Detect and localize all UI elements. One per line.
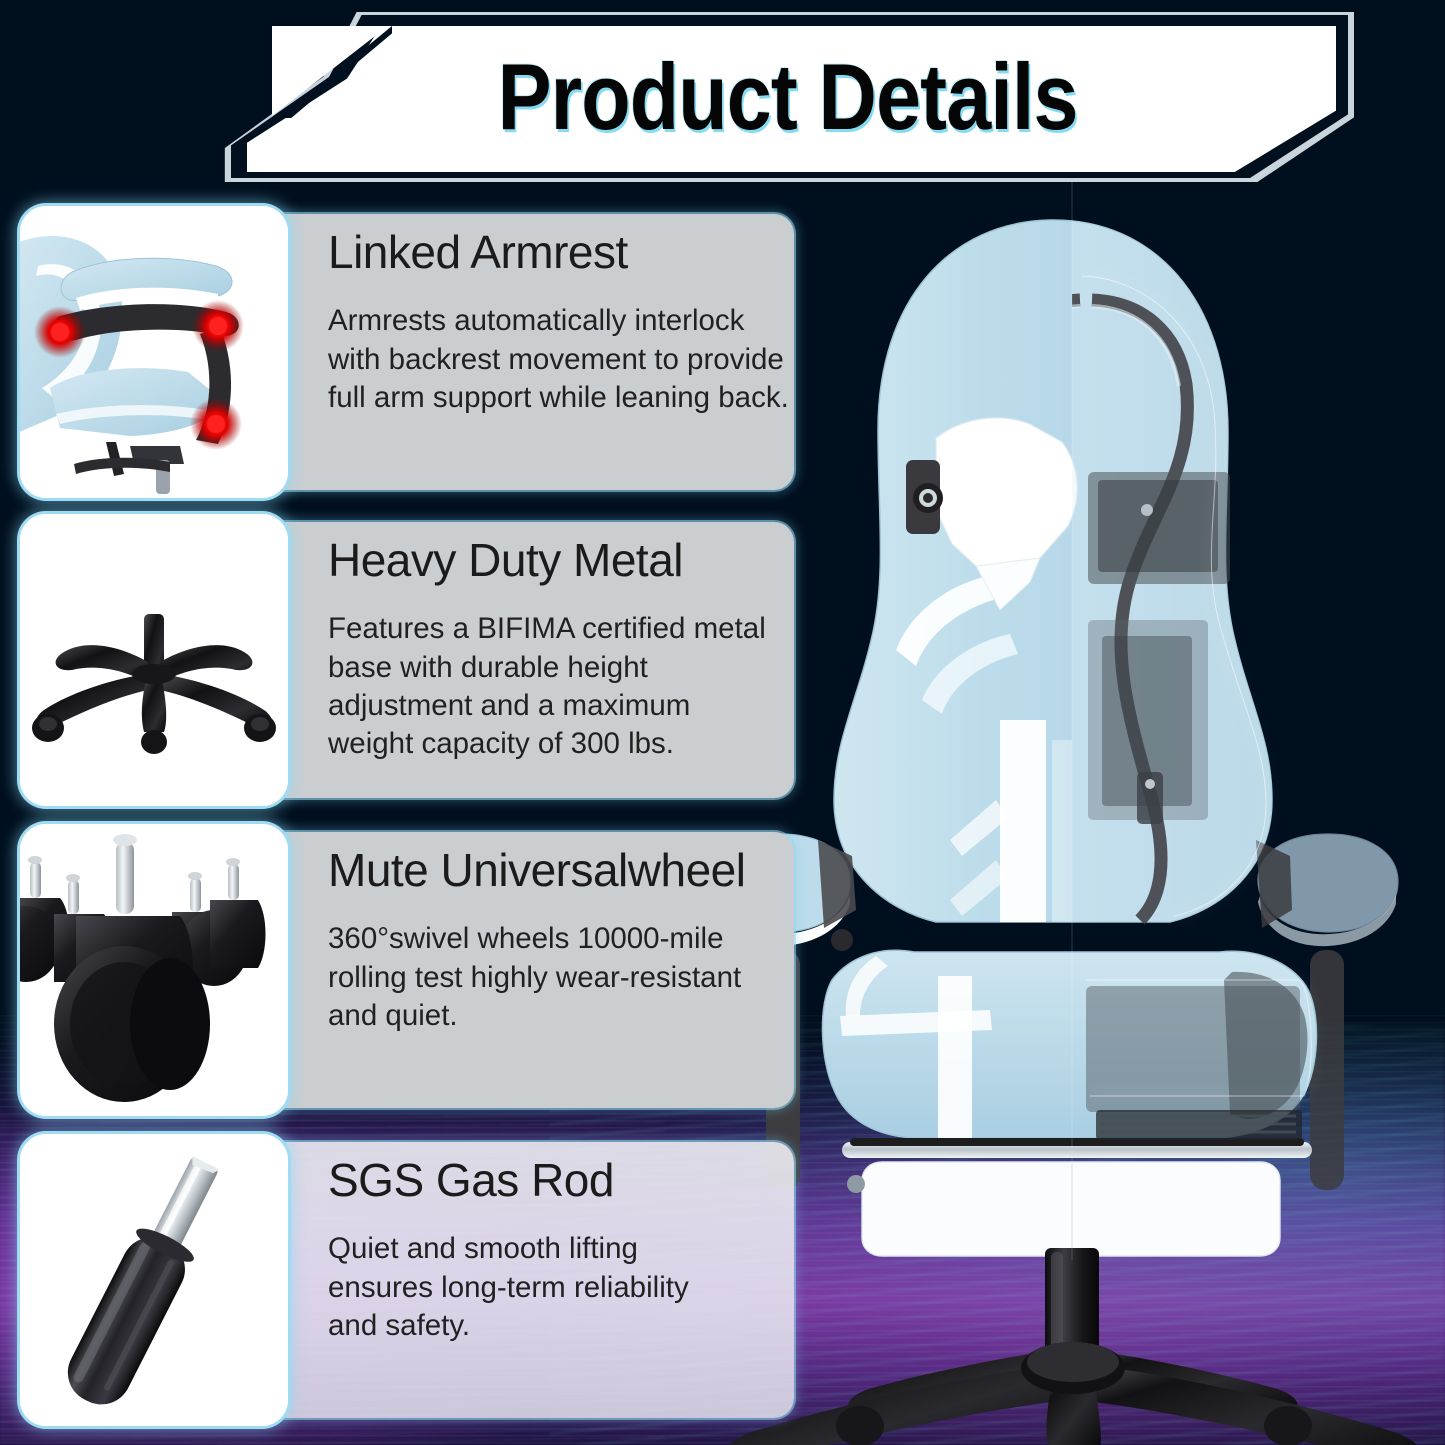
feature-card-sgs-gas-rod: SGS Gas Rod Quiet and smooth lifting ens…: [20, 1134, 794, 1426]
feature-thumbnail-caster-wheels: [20, 824, 288, 1116]
feature-panel: SGS Gas Rod Quiet and smooth lifting ens…: [258, 1142, 794, 1418]
feature-body-line: rolling test highly wear-resistant: [328, 959, 776, 997]
feature-body-line: Armrests automatically interlock: [328, 302, 776, 340]
feature-panel: Mute Universalwheel 360°swivel wheels 10…: [258, 832, 794, 1108]
feature-body: 360°swivel wheels 10000-mile rolling tes…: [328, 920, 776, 1035]
feature-body-line: 360°swivel wheels 10000-mile: [328, 920, 776, 958]
feature-thumbnail-gas-rod: [20, 1134, 288, 1426]
feature-body-line: and safety.: [328, 1307, 776, 1345]
feature-body-line: with backrest movement to provide: [328, 341, 776, 379]
feature-card-mute-universalwheel: Mute Universalwheel 360°swivel wheels 10…: [20, 824, 794, 1116]
feature-body-line: adjustment and a maximum: [328, 687, 776, 725]
feature-body-line: ensures long-term reliability: [328, 1269, 776, 1307]
feature-thumbnail-armrest: [20, 206, 288, 498]
page-title: Product Details: [278, 4, 1281, 190]
feature-body-line: base with durable height: [328, 649, 776, 687]
feature-panel: Linked Armrest Armrests automatically in…: [258, 214, 794, 490]
feature-body: Features a BIFIMA certified metal base w…: [328, 610, 776, 763]
feature-heading: Linked Armrest: [328, 228, 776, 276]
feature-body-line: and quiet.: [328, 997, 776, 1035]
feature-heading: Mute Universalwheel: [328, 846, 776, 894]
feature-card-heavy-duty-metal: Heavy Duty Metal Features a BIFIMA certi…: [20, 514, 794, 806]
feature-card-linked-armrest: Linked Armrest Armrests automatically in…: [20, 206, 794, 498]
feature-body-line: Quiet and smooth lifting: [328, 1230, 776, 1268]
product-chair-image: [700, 180, 1445, 1445]
feature-thumbnail-metal-base: [20, 514, 288, 806]
feature-body-line: Features a BIFIMA certified metal: [328, 610, 776, 648]
title-banner: Product Details: [196, 4, 1362, 190]
feature-panel: Heavy Duty Metal Features a BIFIMA certi…: [258, 522, 794, 798]
feature-heading: Heavy Duty Metal: [328, 536, 776, 584]
feature-heading: SGS Gas Rod: [328, 1156, 776, 1204]
product-details-infographic: Linked Armrest Armrests automatically in…: [0, 0, 1445, 1445]
feature-body-line: full arm support while leaning back.: [328, 379, 776, 417]
feature-body-line: weight capacity of 300 lbs.: [328, 725, 776, 763]
feature-body: Armrests automatically interlock with ba…: [328, 302, 776, 417]
feature-body: Quiet and smooth lifting ensures long-te…: [328, 1230, 776, 1345]
